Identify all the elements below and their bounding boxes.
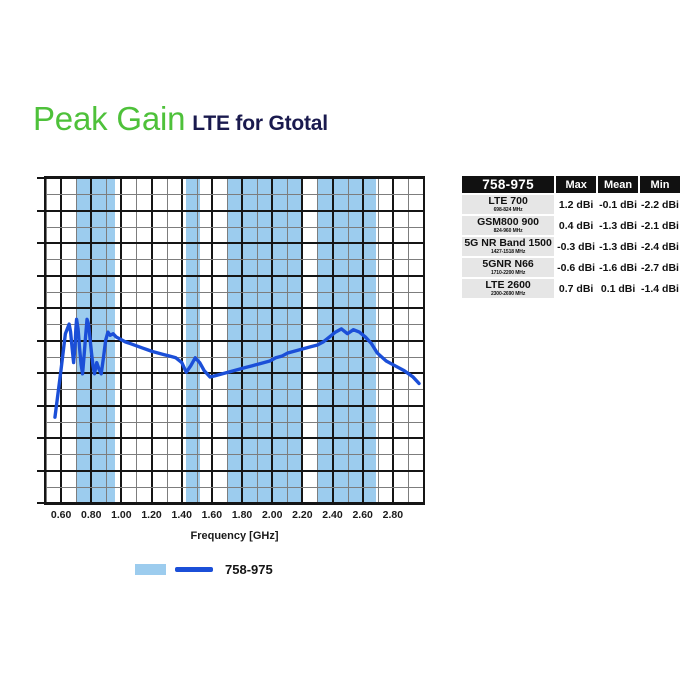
legend-series-label: 758-975: [225, 562, 273, 577]
band-name: LTE 700: [462, 195, 554, 207]
band-frequency-range: 698-824 MHz: [462, 207, 554, 214]
gain-curve: [46, 178, 423, 503]
legend-line-swatch: [175, 567, 213, 572]
band-frequency-range: 1427-1518 MHz: [462, 249, 554, 256]
table-cell-band: GSM800 900824-960 MHz: [462, 216, 554, 235]
title-main-text: Peak Gain: [33, 100, 185, 137]
y-axis-tick-mark: [37, 242, 44, 244]
table-cell-min: -2.1 dBi: [640, 216, 680, 235]
table-cell-max: -0.6 dBi: [556, 258, 596, 277]
table-cell-mean: -1.3 dBi: [598, 237, 638, 256]
plot-area: [44, 176, 425, 505]
x-axis-title: Frequency [GHz]: [44, 530, 425, 542]
table-cell-max: 0.7 dBi: [556, 279, 596, 298]
y-axis-tick-mark: [37, 275, 44, 277]
y-axis-tick-mark: [37, 405, 44, 407]
y-axis-tick-mark: [37, 307, 44, 309]
y-axis-tick-mark: [37, 502, 44, 504]
chart-legend: 758-975: [135, 562, 273, 577]
y-axis-tick-mark: [37, 210, 44, 212]
table-cell-min: -2.4 dBi: [640, 237, 680, 256]
y-axis-tick-mark: [37, 372, 44, 374]
table-cell-min: -1.4 dBi: [640, 279, 680, 298]
band-name: LTE 2600: [462, 279, 554, 291]
x-axis-tick-label: 2.80: [371, 509, 415, 521]
table-cell-mean: -1.3 dBi: [598, 216, 638, 235]
band-name: 5GNR N66: [462, 258, 554, 270]
table-cell-mean: 0.1 dBi: [598, 279, 638, 298]
table-cell-band: 5GNR N661710-2200 MHz: [462, 258, 554, 277]
y-axis-tick-mark: [37, 470, 44, 472]
summary-table: 758-975 Max Mean Min LTE 700698-824 MHz1…: [460, 174, 682, 300]
band-frequency-range: 2300-2690 MHz: [462, 291, 554, 298]
table-cell-min: -2.7 dBi: [640, 258, 680, 277]
band-frequency-range: 824-960 MHz: [462, 228, 554, 235]
table-cell-min: -2.2 dBi: [640, 195, 680, 214]
table-row: GSM800 900824-960 MHz0.4 dBi-1.3 dBi-2.1…: [462, 216, 680, 235]
series-758-975-line: [55, 319, 419, 417]
table-cell-band: LTE 26002300-2690 MHz: [462, 279, 554, 298]
table-body: LTE 700698-824 MHz1.2 dBi-0.1 dBi-2.2 dB…: [462, 195, 680, 298]
table-row: LTE 26002300-2690 MHz0.7 dBi0.1 dBi-1.4 …: [462, 279, 680, 298]
table-cell-max: 1.2 dBi: [556, 195, 596, 214]
band-name: 5G NR Band 1500: [462, 237, 554, 249]
y-axis-tick-mark: [37, 177, 44, 179]
table-row: 5GNR N661710-2200 MHz-0.6 dBi-1.6 dBi-2.…: [462, 258, 680, 277]
table-cell-band: 5G NR Band 15001427-1518 MHz: [462, 237, 554, 256]
table-row: LTE 700698-824 MHz1.2 dBi-0.1 dBi-2.2 dB…: [462, 195, 680, 214]
band-name: GSM800 900: [462, 216, 554, 228]
band-frequency-range: 1710-2200 MHz: [462, 270, 554, 277]
table-cell-mean: -0.1 dBi: [598, 195, 638, 214]
table-cell-max: 0.4 dBi: [556, 216, 596, 235]
table-header-row: 758-975 Max Mean Min: [462, 176, 680, 193]
y-axis-tick-mark: [37, 340, 44, 342]
table-cell-band: LTE 700698-824 MHz: [462, 195, 554, 214]
x-gridline-minor: [423, 178, 424, 503]
peak-gain-chart: 10.08.06.04.02.00.0-2.0-4.0-6.0-8.0-10.0…: [0, 160, 450, 560]
table-cell-mean: -1.6 dBi: [598, 258, 638, 277]
table-row: 5G NR Band 15001427-1518 MHz-0.3 dBi-1.3…: [462, 237, 680, 256]
table-header-title: 758-975: [462, 176, 554, 193]
table-header-max: Max: [556, 176, 596, 193]
page-title: Peak GainLTE for Gtotal: [33, 100, 328, 138]
table-cell-max: -0.3 dBi: [556, 237, 596, 256]
title-sub-text: LTE for Gtotal: [192, 112, 328, 135]
y-axis-tick-mark: [37, 437, 44, 439]
table-header-mean: Mean: [598, 176, 638, 193]
table-header-min: Min: [640, 176, 680, 193]
legend-band-swatch: [135, 564, 166, 575]
